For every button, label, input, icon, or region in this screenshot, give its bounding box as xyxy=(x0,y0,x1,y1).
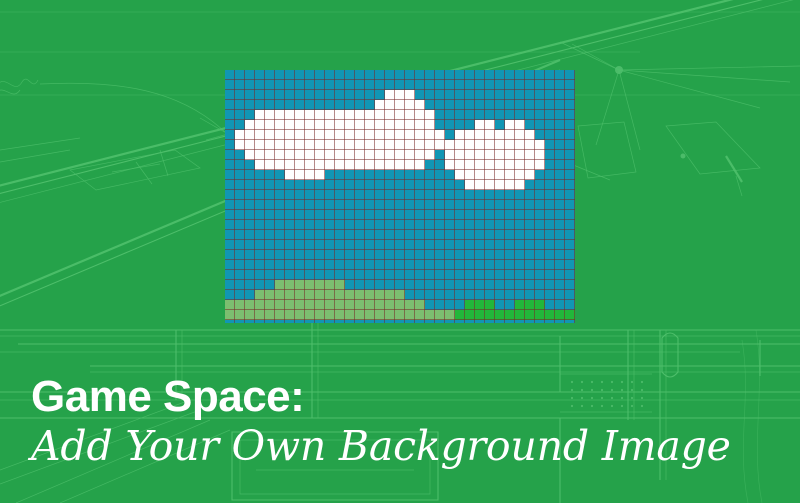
cloud-left-pixel xyxy=(285,130,295,140)
cloud-center-pixel xyxy=(425,150,435,160)
cloud-right-pixel xyxy=(475,150,485,160)
cloud-right-pixel xyxy=(495,150,505,160)
cloud-right-pixel xyxy=(485,120,495,130)
cloud-left-pixel xyxy=(315,120,325,130)
cloud-left-pixel xyxy=(255,120,265,130)
cloud-left-pixel xyxy=(255,140,265,150)
cloud-right-pixel xyxy=(515,180,525,190)
cloud-center-pixel xyxy=(395,130,405,140)
cloud-left-pixel xyxy=(305,120,315,130)
cloud-left-pixel xyxy=(295,170,305,180)
cloud-left-pixel xyxy=(315,150,325,160)
cloud-center-pixel xyxy=(385,160,395,170)
cloud-center-pixel xyxy=(375,110,385,120)
cloud-right-pixel xyxy=(465,160,475,170)
cloud-center-pixel xyxy=(365,150,375,160)
cloud-left-pixel xyxy=(315,140,325,150)
cloud-right-pixel xyxy=(515,120,525,130)
cloud-right-pixel xyxy=(525,140,535,150)
cloud-center-pixel xyxy=(425,110,435,120)
pixel-art-background-preview[interactable] xyxy=(225,70,575,323)
cloud-left-pixel xyxy=(335,150,345,160)
cloud-right-pixel xyxy=(485,170,495,180)
cloud-left-pixel xyxy=(265,110,275,120)
cloud-right-pixel xyxy=(475,130,485,140)
cloud-right-pixel xyxy=(485,130,495,140)
cloud-left-pixel xyxy=(275,130,285,140)
cloud-right-pixel xyxy=(515,140,525,150)
game-space-banner: Game Space: Add Your Own Background Imag… xyxy=(0,0,800,503)
cloud-right-pixel xyxy=(515,170,525,180)
cloud-center-pixel xyxy=(375,160,385,170)
cloud-center-pixel xyxy=(365,120,375,130)
cloud-left-pixel xyxy=(335,130,345,140)
cloud-left-pixel xyxy=(235,130,245,140)
cloud-left-pixel xyxy=(305,130,315,140)
cloud-right-pixel xyxy=(455,170,465,180)
cloud-center-pixel xyxy=(405,100,415,110)
cloud-right-pixel xyxy=(475,180,485,190)
cloud-center-pixel xyxy=(405,130,415,140)
cloud-left-pixel xyxy=(265,130,275,140)
cloud-layer xyxy=(225,70,575,323)
cloud-left-pixel xyxy=(275,140,285,150)
cloud-center-pixel xyxy=(345,130,355,140)
cloud-right-pixel xyxy=(505,160,515,170)
cloud-right-pixel xyxy=(525,160,535,170)
cloud-left-pixel xyxy=(335,110,345,120)
cloud-right-pixel xyxy=(455,150,465,160)
cloud-right-pixel xyxy=(485,180,495,190)
cloud-left-pixel xyxy=(275,150,285,160)
cloud-center-pixel xyxy=(415,120,425,130)
cloud-left-pixel xyxy=(335,160,345,170)
cloud-center-pixel xyxy=(385,90,395,100)
cloud-left-pixel xyxy=(265,160,275,170)
page-subtitle: Add Your Own Background Image xyxy=(31,420,771,472)
cloud-right-pixel xyxy=(525,150,535,160)
cloud-left-pixel xyxy=(275,160,285,170)
cloud-center-pixel xyxy=(405,150,415,160)
cloud-left-pixel xyxy=(275,110,285,120)
cloud-center-pixel xyxy=(385,140,395,150)
cloud-left-pixel xyxy=(325,130,335,140)
cloud-center-pixel xyxy=(415,110,425,120)
cloud-center-pixel xyxy=(375,150,385,160)
cloud-right-pixel xyxy=(445,160,455,170)
cloud-left-pixel xyxy=(315,170,325,180)
cloud-right-pixel xyxy=(455,130,465,140)
cloud-right-pixel xyxy=(465,130,475,140)
title-block: Game Space: Add Your Own Background Imag… xyxy=(31,374,771,472)
cloud-center-pixel xyxy=(355,120,365,130)
cloud-left-pixel xyxy=(295,110,305,120)
cloud-center-pixel xyxy=(355,110,365,120)
cloud-center-pixel xyxy=(375,100,385,110)
cloud-left-pixel xyxy=(295,160,305,170)
cloud-right-pixel xyxy=(535,150,545,160)
cloud-left-pixel xyxy=(315,160,325,170)
cloud-left-pixel xyxy=(305,150,315,160)
cloud-right-pixel xyxy=(485,160,495,170)
cloud-left-pixel xyxy=(255,130,265,140)
cloud-center-pixel xyxy=(415,130,425,140)
cloud-center-pixel xyxy=(415,140,425,150)
cloud-left-pixel xyxy=(325,150,335,160)
cloud-center-pixel xyxy=(355,140,365,150)
cloud-center-pixel xyxy=(375,130,385,140)
cloud-right-pixel xyxy=(495,170,505,180)
cloud-center-pixel xyxy=(405,90,415,100)
cloud-right-pixel xyxy=(515,160,525,170)
cloud-right-pixel xyxy=(525,170,535,180)
cloud-left-pixel xyxy=(305,110,315,120)
cloud-right-pixel xyxy=(505,130,515,140)
cloud-center-pixel xyxy=(395,100,405,110)
cloud-center-pixel xyxy=(385,110,395,120)
cloud-left-pixel xyxy=(345,150,355,160)
cloud-center-pixel xyxy=(385,150,395,160)
cloud-right-pixel xyxy=(505,120,515,130)
cloud-left-pixel xyxy=(315,130,325,140)
cloud-left-pixel xyxy=(285,110,295,120)
cloud-left-pixel xyxy=(335,140,345,150)
cloud-center-pixel xyxy=(415,100,425,110)
cloud-right-pixel xyxy=(475,160,485,170)
cloud-right-pixel xyxy=(475,140,485,150)
cloud-center-pixel xyxy=(375,140,385,150)
cloud-left-pixel xyxy=(345,160,355,170)
cloud-right-pixel xyxy=(455,140,465,150)
cloud-right-pixel xyxy=(445,150,455,160)
cloud-left-pixel xyxy=(295,130,305,140)
cloud-left-pixel xyxy=(345,140,355,150)
cloud-right-pixel xyxy=(505,140,515,150)
cloud-right-pixel xyxy=(495,140,505,150)
cloud-left-pixel xyxy=(245,120,255,130)
cloud-left-pixel xyxy=(355,160,365,170)
cloud-center-pixel xyxy=(435,130,445,140)
cloud-right-pixel xyxy=(455,160,465,170)
cloud-left-pixel xyxy=(325,140,335,150)
cloud-left-pixel xyxy=(305,140,315,150)
cloud-center-pixel xyxy=(385,120,395,130)
cloud-center-pixel xyxy=(395,160,405,170)
cloud-left-pixel xyxy=(325,110,335,120)
cloud-right-pixel xyxy=(465,140,475,150)
cloud-center-pixel xyxy=(345,120,355,130)
cloud-center-pixel xyxy=(405,160,415,170)
cloud-left-pixel xyxy=(265,120,275,130)
cloud-center-pixel xyxy=(435,140,445,150)
page-title: Game Space: xyxy=(31,374,771,420)
cloud-left-pixel xyxy=(245,130,255,140)
cloud-left-pixel xyxy=(315,110,325,120)
cloud-center-pixel xyxy=(365,110,375,120)
cloud-center-pixel xyxy=(405,110,415,120)
cloud-center-pixel xyxy=(385,100,395,110)
cloud-center-pixel xyxy=(395,140,405,150)
cloud-right-pixel xyxy=(495,160,505,170)
cloud-left-pixel xyxy=(295,120,305,130)
cloud-center-pixel xyxy=(395,120,405,130)
cloud-right-pixel xyxy=(465,170,475,180)
cloud-center-pixel xyxy=(365,140,375,150)
cloud-left-pixel xyxy=(335,120,345,130)
cloud-right-pixel xyxy=(495,130,505,140)
cloud-right-pixel xyxy=(485,140,495,150)
cloud-right-pixel xyxy=(445,140,455,150)
cloud-right-pixel xyxy=(485,150,495,160)
cloud-center-pixel xyxy=(395,150,405,160)
cloud-center-pixel xyxy=(365,160,375,170)
cloud-left-pixel xyxy=(265,150,275,160)
cloud-right-pixel xyxy=(515,150,525,160)
cloud-left-pixel xyxy=(305,160,315,170)
cloud-center-pixel xyxy=(425,140,435,150)
cloud-left-pixel xyxy=(285,160,295,170)
cloud-center-pixel xyxy=(405,140,415,150)
cloud-right-pixel xyxy=(535,140,545,150)
cloud-right-pixel xyxy=(505,150,515,160)
cloud-center-pixel xyxy=(375,120,385,130)
cloud-right-pixel xyxy=(495,180,505,190)
cloud-left-pixel xyxy=(285,140,295,150)
cloud-center-pixel xyxy=(415,150,425,160)
cloud-left-pixel xyxy=(295,140,305,150)
cloud-right-pixel xyxy=(505,170,515,180)
cloud-left-pixel xyxy=(285,120,295,130)
cloud-left-pixel xyxy=(325,160,335,170)
cloud-center-pixel xyxy=(425,120,435,130)
cloud-left-pixel xyxy=(235,140,245,150)
cloud-right-pixel xyxy=(525,130,535,140)
cloud-right-pixel xyxy=(535,160,545,170)
cloud-center-pixel xyxy=(355,150,365,160)
cloud-left-pixel xyxy=(285,150,295,160)
cloud-left-pixel xyxy=(325,120,335,130)
cloud-left-pixel xyxy=(275,120,285,130)
cloud-right-pixel xyxy=(515,130,525,140)
cloud-left-pixel xyxy=(295,150,305,160)
cloud-right-pixel xyxy=(465,150,475,160)
cloud-center-pixel xyxy=(355,130,365,140)
cloud-right-pixel xyxy=(475,170,485,180)
cloud-right-pixel xyxy=(465,180,475,190)
cloud-left-pixel xyxy=(255,160,265,170)
cloud-left-pixel xyxy=(255,150,265,160)
cloud-left-pixel xyxy=(265,140,275,150)
cloud-left-pixel xyxy=(255,110,265,120)
cloud-center-pixel xyxy=(415,160,425,170)
cloud-right-pixel xyxy=(475,120,485,130)
cloud-center-pixel xyxy=(395,90,405,100)
cloud-left-pixel xyxy=(345,110,355,120)
cloud-right-pixel xyxy=(505,180,515,190)
cloud-center-pixel xyxy=(425,130,435,140)
cloud-left-pixel xyxy=(245,150,255,160)
cloud-left-pixel xyxy=(305,170,315,180)
cloud-left-pixel xyxy=(285,170,295,180)
cloud-center-pixel xyxy=(365,130,375,140)
cloud-left-pixel xyxy=(245,140,255,150)
cloud-center-pixel xyxy=(385,130,395,140)
cloud-center-pixel xyxy=(395,110,405,120)
cloud-center-pixel xyxy=(405,120,415,130)
